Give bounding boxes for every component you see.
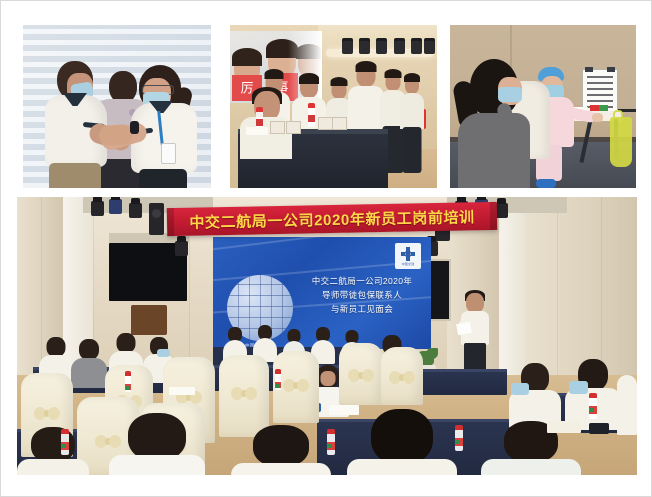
person-attendee-foreground — [17, 427, 89, 475]
person-attendee — [223, 327, 247, 355]
gift-box — [286, 121, 301, 134]
medical-waste-bag — [610, 117, 632, 167]
wristwatch-icon — [130, 121, 139, 134]
notebook — [547, 421, 581, 433]
person-new-employee-male — [45, 61, 107, 188]
chair-cover — [339, 343, 383, 405]
face-mask-icon — [157, 349, 170, 357]
gift-box — [270, 121, 285, 134]
photo-main-scene: 中国交通建设 中交二航局一公司2020年 导师带徒包保联系人 与新员工见面会 中… — [17, 197, 637, 475]
water-bottle — [61, 433, 69, 455]
person-attendee — [617, 375, 637, 435]
top-photo-row: 厉 事 — [23, 25, 636, 188]
person-attendee — [311, 327, 335, 357]
photo-conference-hall[interactable]: 中国交通建设 中交二航局一公司2020年 导师带徒包保联系人 与新员工见面会 中… — [17, 197, 637, 475]
person-attendee-foreground — [231, 425, 331, 475]
photo-1-scene — [23, 25, 211, 188]
person-visitor — [458, 59, 530, 188]
water-bottle — [455, 429, 463, 451]
person-attendee — [253, 325, 277, 355]
handshake — [98, 124, 133, 146]
face-mask-icon — [569, 381, 588, 394]
water-bottle — [308, 107, 315, 127]
photo-collage-frame: 厉 事 — [0, 0, 652, 497]
gift-box — [318, 117, 333, 130]
chair-cover — [381, 347, 423, 405]
water-bottle — [327, 433, 335, 455]
person-attendee — [71, 339, 107, 385]
photo-handshake-ceremony[interactable] — [23, 25, 211, 188]
person-attendee-foreground — [347, 409, 457, 475]
photo-health-check[interactable] — [450, 25, 636, 188]
phone — [589, 423, 609, 434]
water-bottle — [589, 397, 597, 419]
gift-box — [332, 117, 347, 130]
gallery: 厉 事 — [1, 1, 651, 496]
photo-3-scene — [450, 25, 636, 188]
sign-in-sheet — [246, 127, 268, 135]
person-mentor-female — [129, 65, 199, 188]
audience-area — [17, 197, 637, 475]
photo-registration-desk[interactable]: 厉 事 — [230, 25, 437, 188]
person-attendee-foreground — [109, 413, 205, 475]
face-mask-icon — [511, 383, 529, 395]
id-badge — [161, 143, 176, 164]
water-bottle — [275, 373, 281, 390]
notebook — [169, 387, 195, 395]
face-mask-icon — [498, 87, 522, 102]
water-bottle — [125, 375, 131, 392]
photo-2-scene: 厉 事 — [230, 25, 437, 188]
person-standing — [400, 77, 424, 173]
track-lighting — [342, 39, 434, 61]
